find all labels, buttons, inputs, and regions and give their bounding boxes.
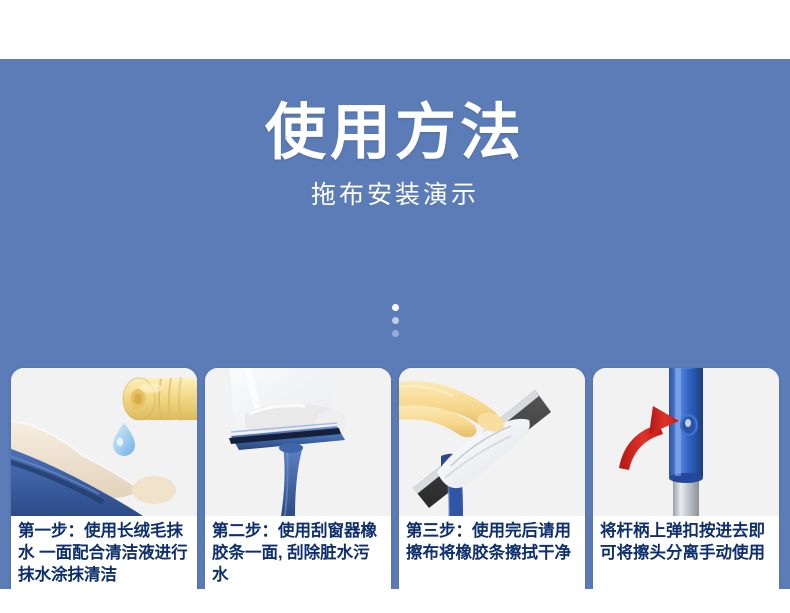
step-card[interactable]: 第一步：使用长绒毛抹水 一面配合清洁液进行抹水涂抹清洁 <box>11 368 197 589</box>
steps-row: 第一步：使用长绒毛抹水 一面配合清洁液进行抹水涂抹清洁 <box>11 368 779 589</box>
dot-icon <box>392 317 399 324</box>
dot-icon <box>392 304 399 311</box>
pole-button-arrow-icon <box>593 368 779 516</box>
step-caption-wrap: 第二步：使用刮窗器橡胶条一面, 刮除脏水污水 <box>205 516 391 589</box>
page-title: 使用方法 <box>0 100 790 166</box>
headline-block: 使用方法 拖布安装演示 <box>0 100 790 209</box>
step-caption-wrap: 将杆柄上弹扣按进去即可将擦头分离手动使用 <box>593 516 779 589</box>
step-caption: 第一步：使用长绒毛抹水 一面配合清洁液进行抹水涂抹清洁 <box>18 521 190 586</box>
dot-icon <box>392 330 399 337</box>
step-1-illustration <box>11 368 197 516</box>
step-caption-wrap: 第三步：使用完后请用擦布将橡胶条擦拭干净 <box>399 516 585 589</box>
instruction-banner: 使用方法 拖布安装演示 <box>0 59 790 589</box>
step-caption: 第二步：使用刮窗器橡胶条一面, 刮除脏水污水 <box>212 521 384 586</box>
step-card[interactable]: 第二步：使用刮窗器橡胶条一面, 刮除脏水污水 <box>205 368 391 589</box>
page-subtitle: 拖布安装演示 <box>0 182 790 210</box>
page-root: 使用方法 拖布安装演示 <box>0 0 790 613</box>
step-caption: 第三步：使用完后请用擦布将橡胶条擦拭干净 <box>406 521 578 565</box>
squeegee-scraping-icon <box>205 368 391 516</box>
step-4-illustration <box>593 368 779 516</box>
step-2-illustration <box>205 368 391 516</box>
hand-wiping-blade-icon <box>399 368 585 516</box>
step-card[interactable]: 将杆柄上弹扣按进去即可将擦头分离手动使用 <box>593 368 779 589</box>
bottle-dripping-icon <box>11 368 197 516</box>
step-caption: 将杆柄上弹扣按进去即可将擦头分离手动使用 <box>600 521 772 565</box>
step-3-illustration <box>399 368 585 516</box>
step-caption-wrap: 第一步：使用长绒毛抹水 一面配合清洁液进行抹水涂抹清洁 <box>11 516 197 589</box>
step-card[interactable]: 第三步：使用完后请用擦布将橡胶条擦拭干净 <box>399 368 585 589</box>
scroll-dots-indicator <box>0 304 790 337</box>
